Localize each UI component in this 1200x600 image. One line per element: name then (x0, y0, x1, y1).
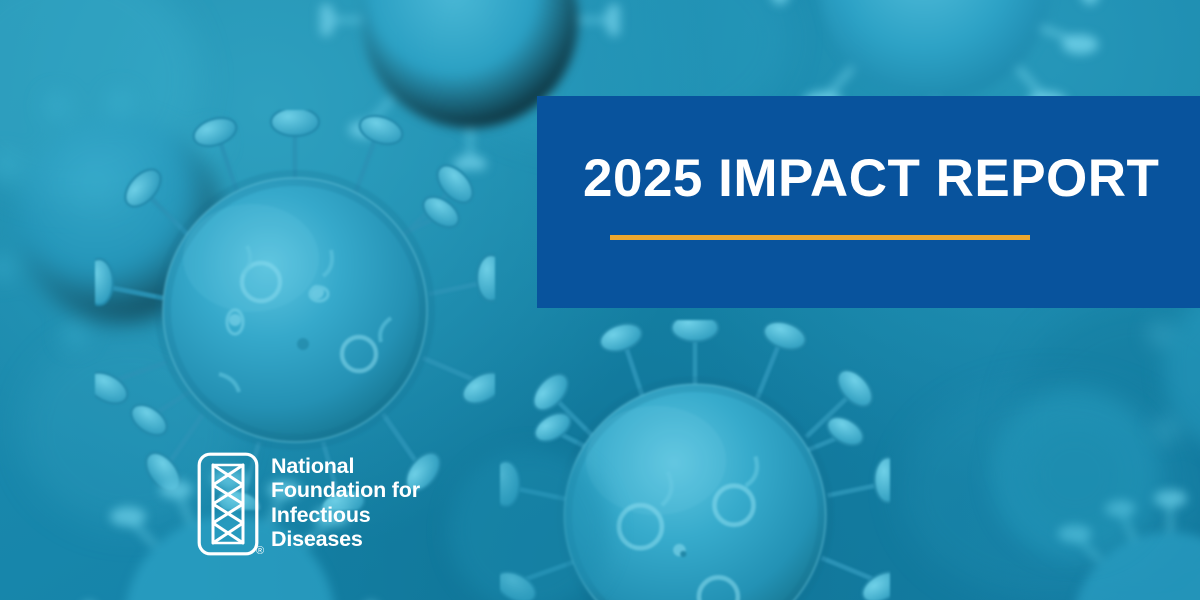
logo-line-3: Infectious (271, 503, 420, 527)
title-accent-rule (610, 235, 1030, 240)
logo-line-4: Diseases (271, 527, 420, 551)
dna-helix-icon: ® (197, 452, 259, 556)
nfid-logo[interactable]: ® National Foundation for Infectious Dis… (197, 452, 420, 556)
logo-line-1: National (271, 454, 420, 478)
page-title: 2025 IMPACT REPORT (583, 152, 1159, 205)
nfid-logo-text: National Foundation for Infectious Disea… (271, 452, 420, 551)
impact-report-hero: 2025 IMPACT REPORT (0, 0, 1200, 600)
title-banner: 2025 IMPACT REPORT (537, 96, 1200, 308)
registered-trademark-symbol: ® (256, 546, 264, 557)
logo-line-2: Foundation for (271, 478, 420, 502)
